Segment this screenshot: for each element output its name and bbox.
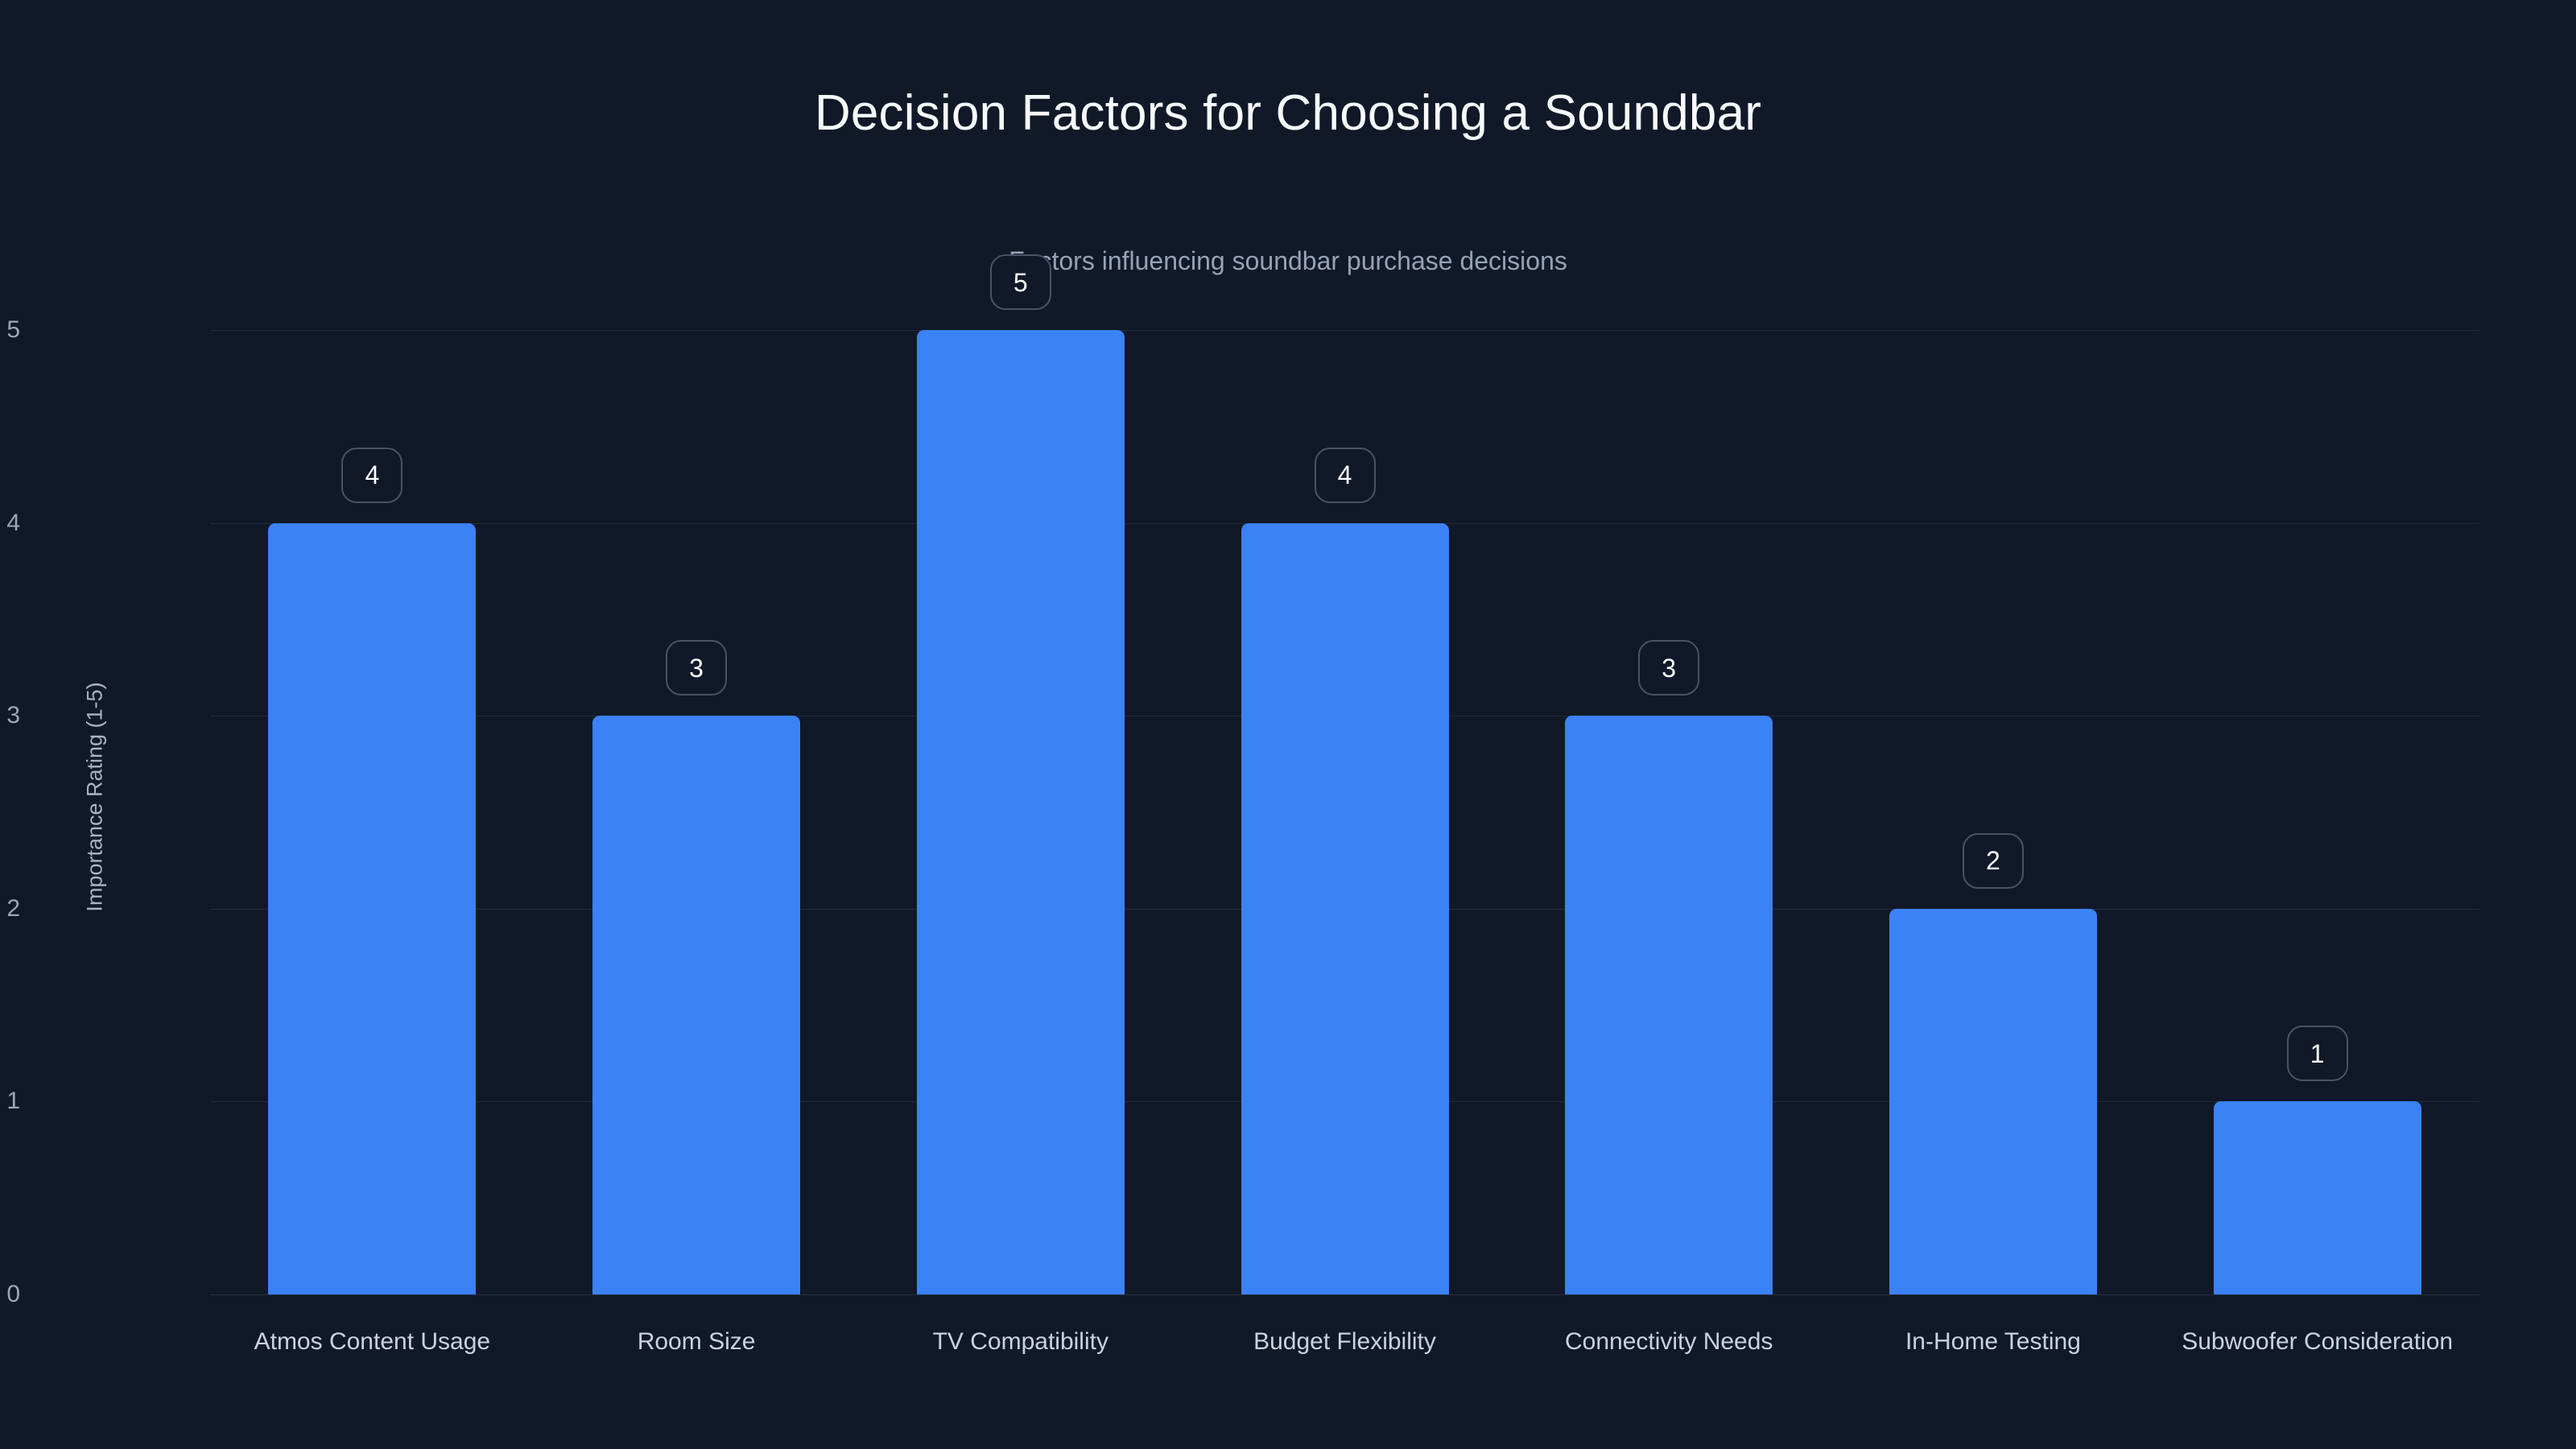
x-axis-tick-label: Subwoofer Consideration bbox=[2182, 1328, 2453, 1356]
y-axis-tick-label: 2 bbox=[0, 895, 20, 923]
bar-value-badge: 1 bbox=[2287, 1026, 2348, 1081]
y-axis-tick-label: 1 bbox=[0, 1088, 20, 1115]
bar-value-badge: 2 bbox=[1963, 833, 2024, 889]
bar[interactable] bbox=[2214, 1101, 2421, 1294]
x-axis-tick-label: In-Home Testing bbox=[1905, 1328, 2081, 1356]
bar[interactable] bbox=[1565, 716, 1773, 1294]
bar-value-badge: 4 bbox=[341, 448, 402, 503]
x-axis-tick-label: Room Size bbox=[638, 1328, 756, 1356]
y-axis-tick-label: 5 bbox=[0, 316, 20, 344]
x-axis-tick-label: Budget Flexibility bbox=[1253, 1328, 1436, 1356]
bar-value-badge: 3 bbox=[1638, 640, 1699, 696]
y-axis-tick-label: 0 bbox=[0, 1281, 20, 1308]
y-axis-tick-label: 3 bbox=[0, 702, 20, 729]
bar-value-badge: 3 bbox=[666, 640, 727, 696]
x-axis-tick-label: TV Compatibility bbox=[933, 1328, 1108, 1356]
bar[interactable] bbox=[1889, 909, 2097, 1294]
gridline bbox=[210, 330, 2479, 331]
x-axis-tick-label: Connectivity Needs bbox=[1565, 1328, 1773, 1356]
bar[interactable] bbox=[592, 716, 800, 1294]
bar[interactable] bbox=[268, 523, 476, 1294]
bar-value-badge: 4 bbox=[1315, 448, 1376, 503]
gridline bbox=[210, 1294, 2479, 1295]
bar[interactable] bbox=[917, 330, 1125, 1294]
chart-subtitle: Factors influencing soundbar purchase de… bbox=[0, 248, 2576, 274]
bar-chart: Decision Factors for Choosing a Soundbar… bbox=[0, 0, 2576, 1449]
chart-title: Decision Factors for Choosing a Soundbar bbox=[0, 89, 2576, 138]
y-axis-title: Importance Rating (1-5) bbox=[83, 682, 108, 911]
bar[interactable] bbox=[1241, 523, 1449, 1294]
x-axis-tick-label: Atmos Content Usage bbox=[254, 1328, 490, 1356]
bar-value-badge: 5 bbox=[990, 254, 1051, 310]
y-axis-tick-label: 4 bbox=[0, 510, 20, 537]
